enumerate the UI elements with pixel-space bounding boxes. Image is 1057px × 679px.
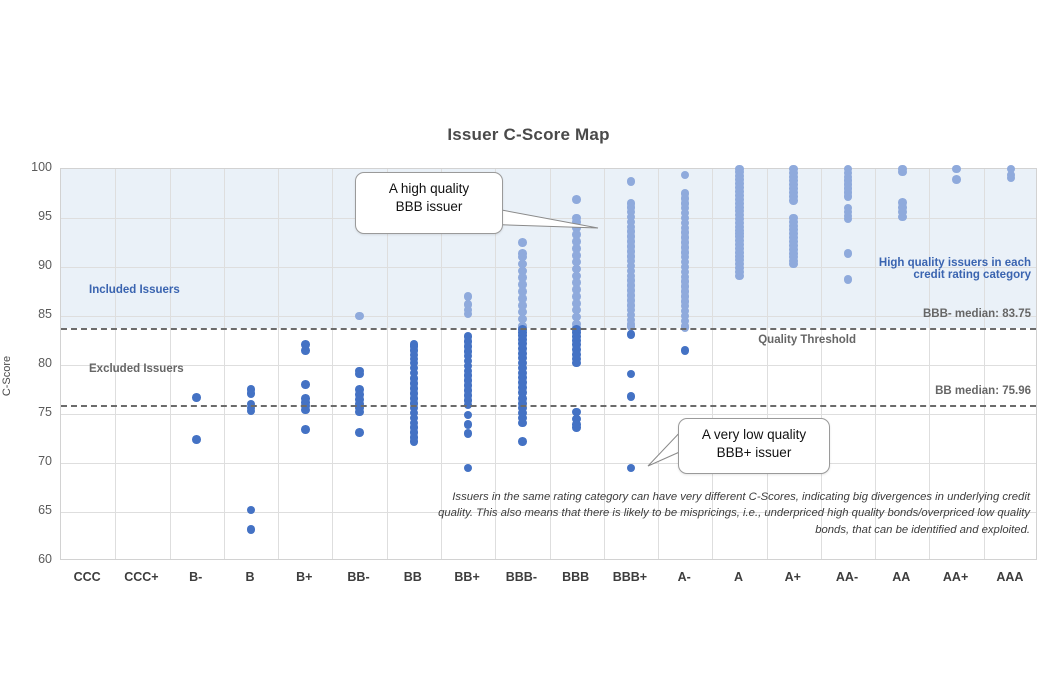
annotation-included-issuers: Included Issuers <box>89 284 180 296</box>
scatter-point <box>192 393 201 402</box>
scatter-point <box>627 370 636 379</box>
scatter-point <box>355 370 364 379</box>
reference-line-bb-median <box>61 405 1036 407</box>
scatter-point <box>1007 174 1016 183</box>
gridline-horizontal <box>61 463 1036 464</box>
x-axis-tick-label: CCC+ <box>124 570 158 584</box>
gridline-horizontal <box>61 414 1036 415</box>
included-band-shading <box>61 169 1036 328</box>
scatter-point <box>518 419 527 428</box>
y-axis-tick-label: 65 <box>8 503 52 517</box>
callout-line-1: A high quality <box>389 181 469 196</box>
x-axis-tick-label: AA <box>892 570 910 584</box>
callout-high-quality-bbb-issuer[interactable]: A high quality BBB issuer <box>355 172 503 234</box>
scatter-point <box>572 423 581 432</box>
scatter-point <box>681 346 690 355</box>
y-axis-tick-label: 90 <box>8 258 52 272</box>
x-axis-tick-label: B <box>245 570 254 584</box>
annotation-quality-threshold: Quality Threshold <box>758 334 856 346</box>
y-axis-tick-label: 80 <box>8 356 52 370</box>
x-axis-tick-label: CCC <box>74 570 101 584</box>
page-title: Issuer C-Score Map <box>0 125 1057 145</box>
annotation-bbb-median: BBB- median: 83.75 <box>923 308 1031 320</box>
scatter-point <box>518 437 527 446</box>
x-axis-tick-label: BB- <box>347 570 369 584</box>
x-axis-tick-label: AA- <box>836 570 858 584</box>
callout-low-quality-bbbplus-issuer[interactable]: A very low quality BBB+ issuer <box>678 418 830 474</box>
annotation-high-quality-issuers: High quality issuers in each credit rati… <box>701 257 1031 281</box>
y-axis-title: C-Score <box>1 356 13 396</box>
scatter-point <box>464 420 473 429</box>
x-axis-tick-label: A- <box>678 570 691 584</box>
scatter-point <box>301 346 310 355</box>
scatter-point <box>247 525 256 534</box>
scatter-point <box>301 406 310 415</box>
scatter-point <box>355 408 364 417</box>
x-axis-tick-label: AAA <box>996 570 1023 584</box>
y-axis-tick-label: 100 <box>8 160 52 174</box>
scatter-point <box>627 392 636 401</box>
scatter-point <box>572 359 581 368</box>
y-axis-tick-label: 60 <box>8 552 52 566</box>
y-axis-tick-label: 85 <box>8 307 52 321</box>
scatter-point <box>627 464 636 473</box>
reference-line-bbb-median <box>61 328 1036 330</box>
gridline-vertical <box>332 169 333 559</box>
scatter-point <box>789 196 798 205</box>
x-axis-tick-label: BB <box>404 570 422 584</box>
scatter-point <box>464 429 473 438</box>
scatter-point <box>410 437 419 446</box>
x-axis-tick-label: AA+ <box>943 570 968 584</box>
scatter-point <box>247 389 256 398</box>
scatter-point <box>301 380 310 389</box>
x-axis-tick-label: BBB+ <box>613 570 647 584</box>
scatter-point <box>355 428 364 437</box>
scatter-point <box>952 175 961 184</box>
scatter-point <box>952 165 961 174</box>
x-axis-tick-label: B+ <box>296 570 312 584</box>
gridline-vertical <box>278 169 279 559</box>
scatter-point <box>627 177 636 186</box>
callout-line-2: BBB+ issuer <box>717 445 792 460</box>
x-axis-tick-label: BBB <box>562 570 589 584</box>
annotation-excluded-issuers: Excluded Issuers <box>89 363 184 375</box>
x-axis-tick-label: A <box>734 570 743 584</box>
scatter-point <box>898 168 907 177</box>
gridline-vertical <box>224 169 225 559</box>
scatter-point <box>844 215 853 224</box>
scatter-point <box>464 464 473 473</box>
scatter-point <box>627 330 636 339</box>
x-axis-tick-label: BB+ <box>454 570 479 584</box>
x-axis-tick-label: B- <box>189 570 202 584</box>
scatter-point <box>464 310 473 319</box>
scatter-point <box>355 312 364 321</box>
scatter-point <box>192 435 201 444</box>
gridline-horizontal <box>61 316 1036 317</box>
scatter-point <box>844 192 853 201</box>
scatter-point <box>518 238 527 247</box>
y-axis-tick-label: 95 <box>8 209 52 223</box>
scatter-point <box>898 213 907 222</box>
gridline-horizontal <box>61 365 1036 366</box>
scatter-point <box>301 425 310 434</box>
scatter-point <box>464 411 473 420</box>
y-axis-tick-label: 70 <box>8 454 52 468</box>
scatter-point <box>681 171 690 180</box>
callout-line-1: A very low quality <box>702 427 806 442</box>
annotation-bb-median: BB median: 75.96 <box>935 385 1031 397</box>
chart-footnote: Issuers in the same rating category can … <box>430 489 1030 538</box>
callout-line-2: BBB issuer <box>396 199 463 214</box>
y-axis-tick-label: 75 <box>8 405 52 419</box>
x-axis-tick-label: A+ <box>785 570 801 584</box>
x-axis-tick-label: BBB- <box>506 570 537 584</box>
scatter-point <box>247 506 256 515</box>
